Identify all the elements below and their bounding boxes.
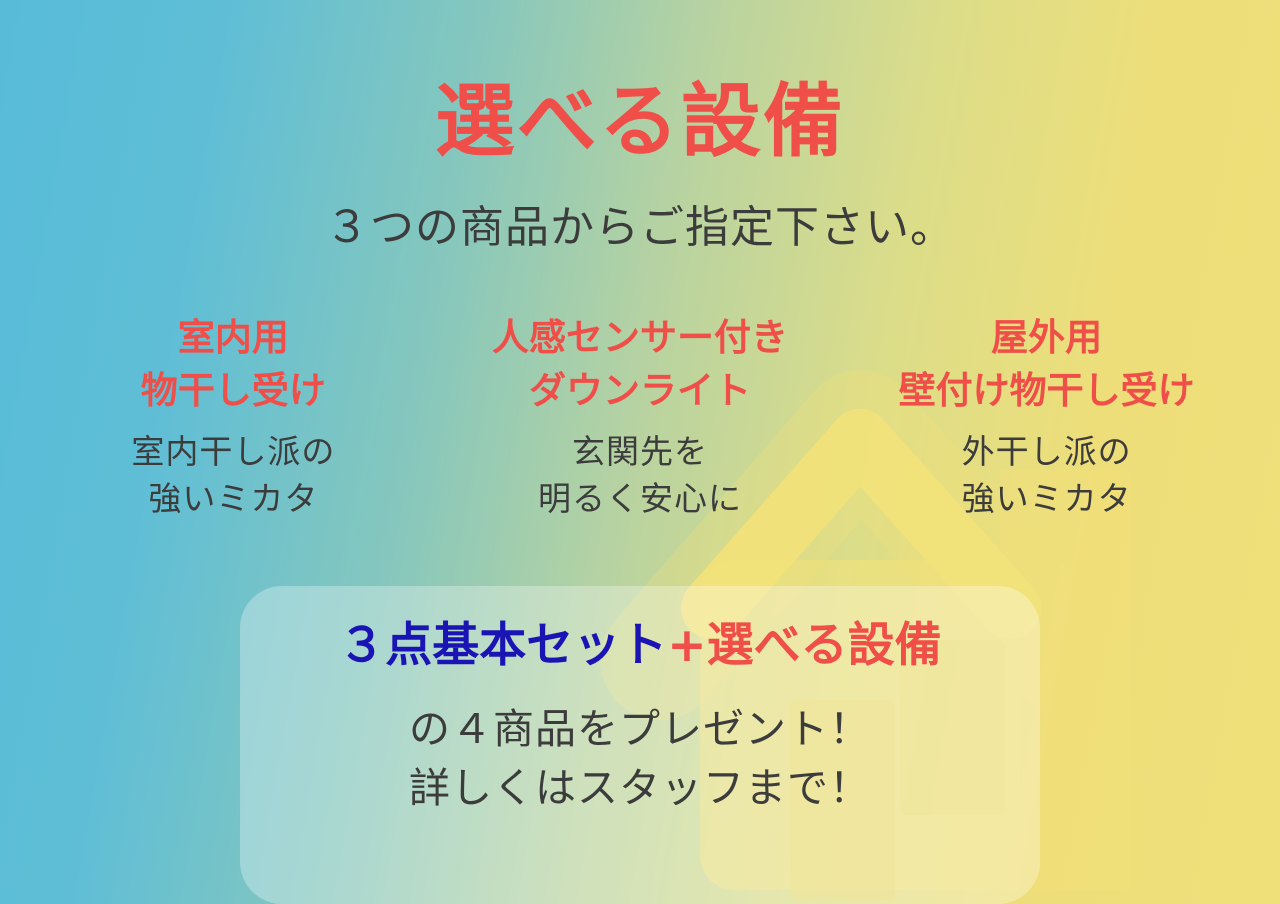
option-description: 室内干し派の 強いミカタ — [34, 429, 433, 523]
option-heading: 室内用 物干し受け — [34, 312, 433, 417]
option-heading-line1: 人感センサー付き — [441, 312, 840, 365]
option-heading-line2: ダウンライト — [441, 365, 840, 418]
option-desc-line1: 玄関先を — [441, 429, 840, 476]
option-heading-line1: 室内用 — [34, 312, 433, 365]
promo-detail-line1: の４商品をプレゼント！ — [0, 700, 1280, 759]
option-description: 外干し派の 強いミカタ — [847, 429, 1246, 523]
page-subtitle: ３つの商品からご指定下さい。 — [0, 202, 1280, 255]
option-desc-line2: 強いミカタ — [34, 476, 433, 523]
option-heading: 屋外用 壁付け物干し受け — [847, 312, 1246, 417]
option-desc-line1: 外干し派の — [847, 429, 1246, 476]
option-desc-line2: 強いミカタ — [847, 476, 1246, 523]
option-card-indoor-rack[interactable]: 室内用 物干し受け 室内干し派の 強いミカタ — [30, 312, 437, 523]
option-card-outdoor-rack[interactable]: 屋外用 壁付け物干し受け 外干し派の 強いミカタ — [843, 312, 1250, 523]
promo-detail-line2: 詳しくはスタッフまで！ — [0, 759, 1280, 818]
promo-poster: 選べる設備 ３つの商品からご指定下さい。 室内用 物干し受け 室内干し派の 強い… — [0, 0, 1280, 904]
options-row: 室内用 物干し受け 室内干し派の 強いミカタ 人感センサー付き ダウンライト 玄… — [30, 312, 1250, 523]
option-description: 玄関先を 明るく安心に — [441, 429, 840, 523]
option-desc-line1: 室内干し派の — [34, 429, 433, 476]
option-heading-line2: 物干し受け — [34, 365, 433, 418]
option-card-sensor-downlight[interactable]: 人感センサー付き ダウンライト 玄関先を 明るく安心に — [437, 312, 844, 523]
promo-headline-plus: + — [667, 618, 706, 673]
promo-detail: の４商品をプレゼント！ 詳しくはスタッフまで！ — [0, 700, 1280, 819]
promo-headline: ３点基本セット+選べる設備 — [0, 620, 1280, 672]
page-title: 選べる設備 — [0, 82, 1280, 162]
option-desc-line2: 明るく安心に — [441, 476, 840, 523]
promo-headline-red: 選べる設備 — [707, 618, 942, 673]
option-heading: 人感センサー付き ダウンライト — [441, 312, 840, 417]
option-heading-line1: 屋外用 — [847, 312, 1246, 365]
option-heading-line2: 壁付け物干し受け — [847, 365, 1246, 418]
promo-headline-navy: ３点基本セット — [338, 618, 667, 673]
